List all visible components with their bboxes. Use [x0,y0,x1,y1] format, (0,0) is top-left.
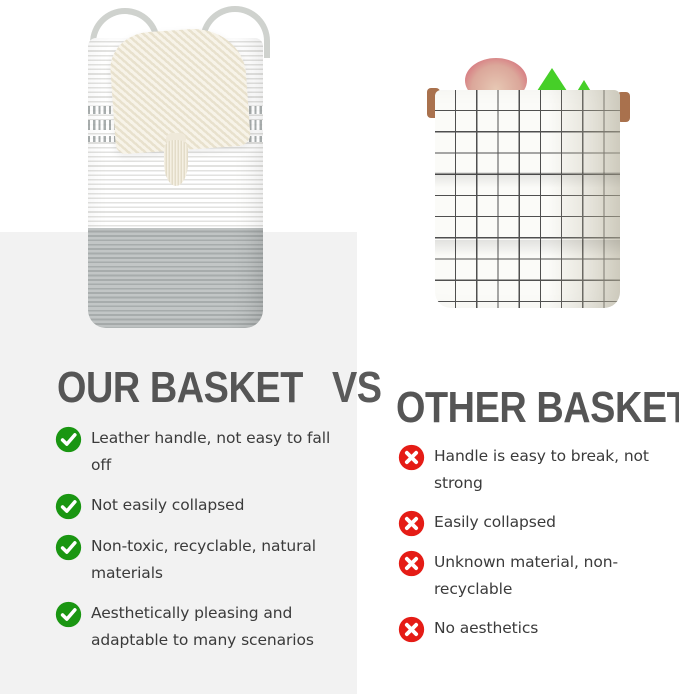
list-item-label: Leather handle, not easy to fall off [91,425,345,479]
green-check-icon [55,426,82,453]
list-item-label: Unknown material, non-recyclable [434,549,678,603]
list-item-label: Not easily collapsed [91,492,244,519]
collapse-crease-2 [435,240,620,256]
page-title-other-basket: OTHER BASKET [396,386,679,430]
bin-shading [548,90,620,308]
red-x-icon [398,510,425,537]
bin-body [435,90,620,308]
list-item: Aesthetically pleasing and adaptable to … [55,600,345,654]
page-title-our-basket: OUR BASKET [57,366,303,410]
list-item: Leather handle, not easy to fall off [55,425,345,479]
list-item: Easily collapsed [398,509,678,537]
red-x-icon [398,616,425,643]
list-item-label: Easily collapsed [434,509,556,536]
basket-gray-bottom [88,228,263,328]
green-check-icon [55,601,82,628]
list-item-label: Aesthetically pleasing and adaptable to … [91,600,345,654]
red-x-icon [398,444,425,471]
list-item: Not easily collapsed [55,492,345,520]
list-item: No aesthetics [398,615,678,643]
cons-feature-list: Handle is easy to break, not strong Easi… [398,443,678,655]
list-item: Handle is easy to break, not strong [398,443,678,497]
list-item: Unknown material, non-recyclable [398,549,678,603]
pros-feature-list: Leather handle, not easy to fall off Not… [55,425,345,667]
green-check-icon [55,493,82,520]
green-check-icon [55,534,82,561]
list-item-label: Non-toxic, recyclable, natural materials [91,533,345,587]
red-x-icon [398,550,425,577]
our-basket-product-image [60,0,300,340]
collapse-crease-1 [435,172,620,188]
vs-label: VS [332,366,382,410]
list-item: Non-toxic, recyclable, natural materials [55,533,345,587]
tassel [164,140,188,186]
list-item-label: No aesthetics [434,615,538,642]
other-basket-product-image [405,50,655,325]
list-item-label: Handle is easy to break, not strong [434,443,678,497]
